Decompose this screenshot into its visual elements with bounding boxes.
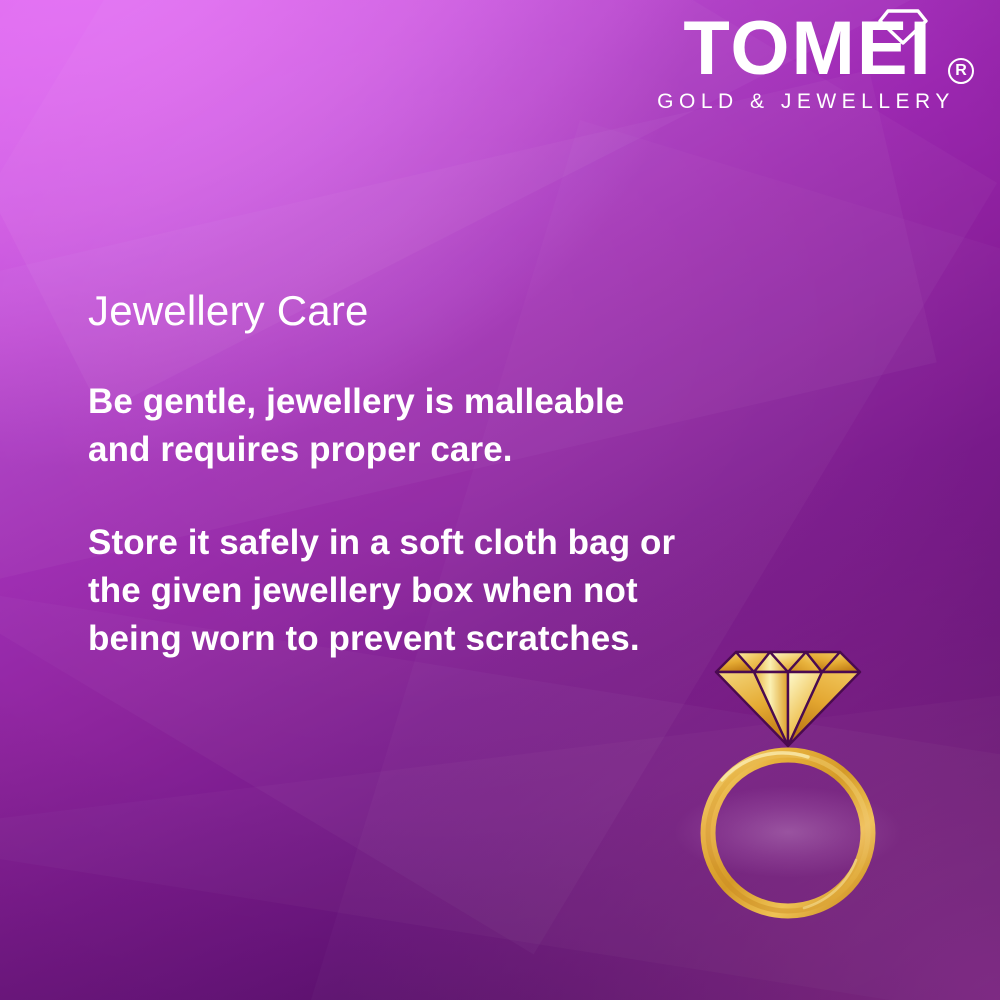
logo-tagline: GOLD & JEWELLERY: [638, 90, 978, 114]
poster-canvas: TOMEI R GOLD & JEWELLERY Jewellery Care …: [0, 0, 1000, 1000]
copy-block: Jewellery Care Be gentle, jewellery is m…: [88, 288, 688, 662]
body-paragraph-2: Store it safely in a soft cloth bag or t…: [88, 519, 688, 662]
gold-ring-band-icon: [708, 753, 868, 911]
page-title: Jewellery Care: [88, 288, 688, 334]
diamond-ring-illustration: [678, 628, 898, 918]
gold-diamond-icon: [716, 652, 860, 746]
brand-logo: TOMEI R GOLD & JEWELLERY: [638, 6, 978, 114]
registered-trademark-icon: R: [948, 58, 974, 84]
body-paragraph-1: Be gentle, jewellery is malleable and re…: [88, 378, 688, 473]
diamond-outline-icon: [872, 8, 934, 46]
logo-wordmark-row: TOMEI R: [638, 6, 978, 92]
